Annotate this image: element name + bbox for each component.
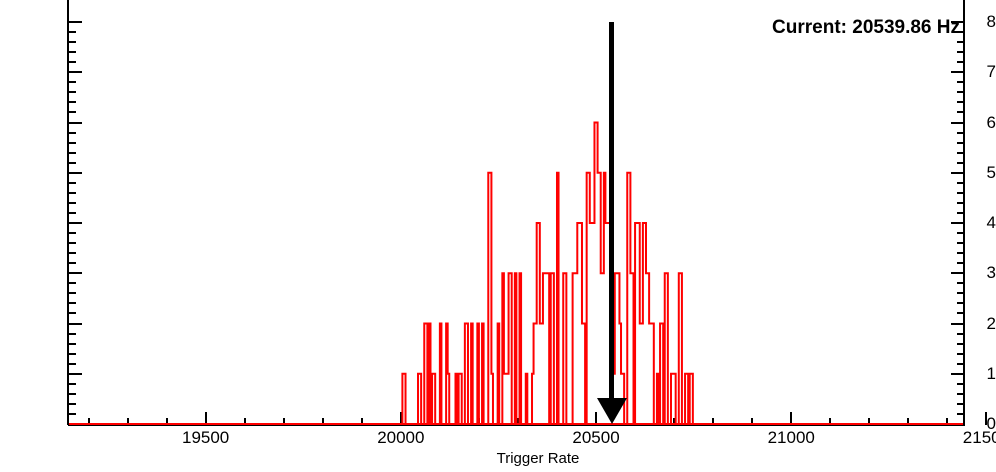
x-tick-label: 21500: [941, 429, 996, 446]
y-tick-minor: [69, 363, 76, 365]
y-tick-minor-right: [957, 242, 964, 244]
y-tick-label: 3: [938, 264, 996, 281]
y-tick-minor-right: [957, 81, 964, 83]
y-tick-minor: [69, 282, 76, 284]
y-tick-minor: [69, 343, 76, 345]
x-tick-minor: [712, 418, 714, 425]
marker-arrowhead-icon: [597, 398, 627, 424]
x-tick-minor: [868, 418, 870, 425]
histogram-series: [0, 0, 996, 472]
y-tick-minor-right: [957, 41, 964, 43]
y-tick-minor-right: [957, 132, 964, 134]
y-tick-minor-right: [957, 202, 964, 204]
x-tick-minor: [556, 418, 558, 425]
y-tick-minor: [69, 132, 76, 134]
x-tick-minor: [361, 418, 363, 425]
y-tick-minor: [69, 403, 76, 405]
y-tick-minor-right: [957, 101, 964, 103]
x-tick-minor: [829, 418, 831, 425]
y-tick-minor-right: [957, 91, 964, 93]
y-tick-label: 2: [938, 315, 996, 332]
page-title: Current: 20539.86 Hz: [772, 17, 960, 39]
y-tick-label: 1: [938, 365, 996, 382]
x-tick-minor: [907, 418, 909, 425]
y-tick-minor: [69, 142, 76, 144]
x-tick-major: [985, 412, 987, 425]
y-tick-major: [69, 71, 82, 73]
x-tick-label: 19500: [161, 429, 251, 446]
y-tick-minor: [69, 182, 76, 184]
histogram-canvas: 0123456781950020000205002100021500 Curre…: [0, 0, 996, 472]
y-tick-minor-right: [957, 61, 964, 63]
y-tick-major: [69, 272, 82, 274]
y-tick-minor: [69, 242, 76, 244]
y-tick-major: [69, 122, 82, 124]
x-tick-minor: [673, 418, 675, 425]
y-tick-minor: [69, 353, 76, 355]
y-tick-minor-right: [957, 413, 964, 415]
y-tick-minor: [69, 61, 76, 63]
y-tick-minor-right: [957, 212, 964, 214]
y-tick-minor: [69, 413, 76, 415]
y-tick-minor-right: [957, 162, 964, 164]
y-tick-minor: [69, 393, 76, 395]
y-tick-minor: [69, 383, 76, 385]
y-tick-major: [69, 323, 82, 325]
y-tick-minor: [69, 41, 76, 43]
x-tick-minor: [478, 418, 480, 425]
y-tick-minor: [69, 312, 76, 314]
x-tick-minor: [244, 418, 246, 425]
y-tick-label: 6: [938, 114, 996, 131]
y-tick-major: [69, 373, 82, 375]
y-tick-minor: [69, 162, 76, 164]
y-tick-minor-right: [957, 182, 964, 184]
y-tick-major: [69, 21, 82, 23]
y-tick-minor-right: [957, 403, 964, 405]
y-tick-minor: [69, 212, 76, 214]
x-tick-minor: [88, 418, 90, 425]
y-tick-minor: [69, 252, 76, 254]
x-axis-title: Trigger Rate: [0, 450, 996, 467]
x-tick-minor: [322, 418, 324, 425]
x-tick-label: 20000: [356, 429, 446, 446]
y-tick-minor-right: [957, 393, 964, 395]
x-tick-label: 21000: [746, 429, 836, 446]
y-tick-minor: [69, 51, 76, 53]
y-tick-major: [69, 172, 82, 174]
y-tick-minor: [69, 31, 76, 33]
y-tick-minor-right: [957, 152, 964, 154]
y-tick-minor-right: [957, 252, 964, 254]
x-tick-major: [400, 412, 402, 425]
y-tick-minor: [69, 302, 76, 304]
y-tick-label: 4: [938, 214, 996, 231]
x-axis-title-label: Trigger Rate: [497, 450, 580, 467]
y-tick-minor: [69, 152, 76, 154]
y-tick-major: [69, 423, 82, 425]
y-tick-minor-right: [957, 302, 964, 304]
x-tick-minor: [751, 418, 753, 425]
x-tick-minor: [283, 418, 285, 425]
y-tick-minor-right: [957, 383, 964, 385]
x-tick-major: [205, 412, 207, 425]
x-tick-minor: [166, 418, 168, 425]
y-tick-minor-right: [957, 292, 964, 294]
y-tick-minor: [69, 292, 76, 294]
x-tick-major: [790, 412, 792, 425]
y-tick-minor-right: [957, 363, 964, 365]
x-tick-minor: [439, 418, 441, 425]
x-tick-minor: [634, 418, 636, 425]
y-tick-minor-right: [957, 312, 964, 314]
y-tick-minor-right: [957, 343, 964, 345]
y-tick-minor-right: [957, 333, 964, 335]
marker-shaft-line: [609, 22, 614, 404]
y-tick-minor-right: [957, 142, 964, 144]
x-tick-minor: [127, 418, 129, 425]
y-tick-minor-right: [957, 232, 964, 234]
y-tick-minor: [69, 232, 76, 234]
y-tick-label: 5: [938, 164, 996, 181]
x-tick-minor: [946, 418, 948, 425]
y-tick-minor-right: [957, 262, 964, 264]
x-tick-label: 20500: [551, 429, 641, 446]
y-tick-major: [69, 222, 82, 224]
y-tick-minor: [69, 202, 76, 204]
y-tick-minor: [69, 333, 76, 335]
y-tick-label: 7: [938, 63, 996, 80]
y-tick-minor-right: [957, 51, 964, 53]
y-tick-minor: [69, 192, 76, 194]
y-tick-minor-right: [957, 111, 964, 113]
x-tick-minor: [517, 418, 519, 425]
y-tick-minor-right: [957, 282, 964, 284]
y-tick-minor: [69, 111, 76, 113]
histogram-outline: [402, 123, 714, 425]
y-tick-minor-right: [957, 192, 964, 194]
y-tick-minor-right: [957, 353, 964, 355]
y-tick-minor: [69, 81, 76, 83]
y-tick-minor: [69, 101, 76, 103]
y-tick-minor: [69, 262, 76, 264]
y-tick-minor: [69, 91, 76, 93]
